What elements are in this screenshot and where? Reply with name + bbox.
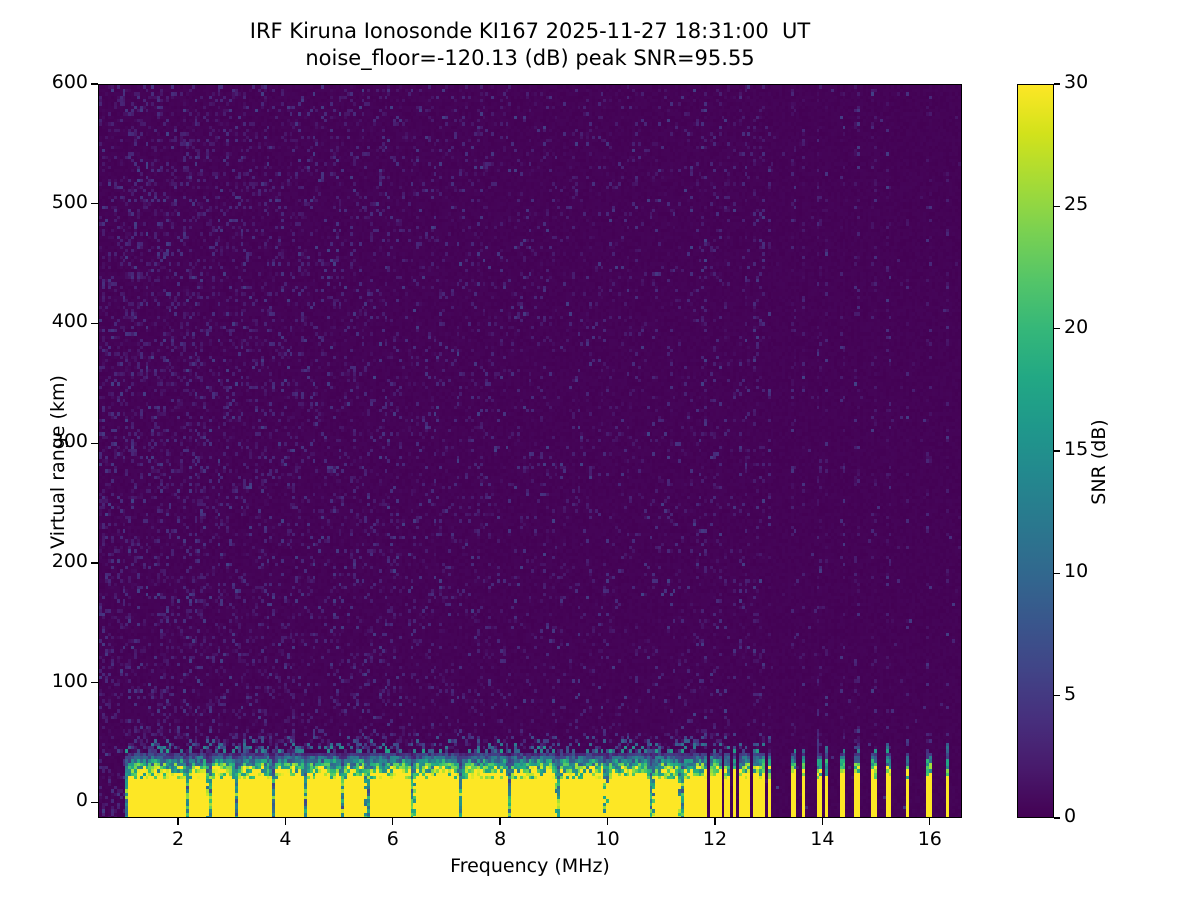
colorbar-tick-label: 15: [1064, 438, 1088, 460]
x-tick-label: 4: [245, 828, 325, 850]
x-tick-label: 6: [353, 828, 433, 850]
colorbar-tick-mark: [1054, 450, 1060, 451]
x-tick-label: 12: [675, 828, 755, 850]
y-tick-mark: [91, 443, 98, 444]
x-tick-mark: [714, 818, 715, 825]
colorbar-label: SNR (dB): [1088, 95, 1110, 829]
x-tick-mark: [392, 818, 393, 825]
colorbar-gradient: [1018, 85, 1053, 817]
colorbar-tick-mark: [1054, 83, 1060, 84]
y-tick-label: 600: [52, 71, 88, 93]
y-tick-mark: [91, 323, 98, 324]
title-line-1: IRF Kiruna Ionosonde KI167 2025-11-27 18…: [0, 18, 1060, 45]
x-tick-mark: [929, 818, 930, 825]
y-tick-label: 0: [76, 789, 88, 811]
x-tick-label: 16: [890, 828, 970, 850]
y-tick-mark: [91, 562, 98, 563]
colorbar-tick-label: 25: [1064, 193, 1088, 215]
y-tick-mark: [91, 203, 98, 204]
colorbar-tick-label: 30: [1064, 71, 1088, 93]
title-line-2: noise_floor=-120.13 (dB) peak SNR=95.55: [0, 45, 1060, 72]
x-tick-label: 2: [138, 828, 218, 850]
y-tick-mark: [91, 802, 98, 803]
x-tick-label: 10: [568, 828, 648, 850]
x-tick-mark: [177, 818, 178, 825]
x-tick-mark: [607, 818, 608, 825]
y-tick-mark: [91, 682, 98, 683]
y-tick-mark: [91, 83, 98, 84]
colorbar-tick-label: 0: [1064, 805, 1076, 827]
ionogram-heatmap[interactable]: [99, 85, 962, 818]
y-axis-label: Virtual range (km): [47, 95, 69, 829]
x-tick-mark: [499, 818, 500, 825]
colorbar-tick-label: 10: [1064, 560, 1088, 582]
plot-area[interactable]: [98, 84, 962, 818]
x-tick-mark: [822, 818, 823, 825]
colorbar-tick-mark: [1054, 695, 1060, 696]
figure-title: IRF Kiruna Ionosonde KI167 2025-11-27 18…: [0, 18, 1060, 72]
colorbar-tick-mark: [1054, 328, 1060, 329]
x-axis-label: Frequency (MHz): [98, 855, 962, 877]
colorbar-tick-label: 5: [1064, 683, 1076, 705]
x-tick-label: 14: [782, 828, 862, 850]
colorbar-tick-label: 20: [1064, 316, 1088, 338]
x-tick-mark: [285, 818, 286, 825]
colorbar[interactable]: [1017, 84, 1054, 818]
colorbar-tick-mark: [1054, 817, 1060, 818]
ionogram-figure: IRF Kiruna Ionosonde KI167 2025-11-27 18…: [0, 0, 1200, 900]
colorbar-tick-mark: [1054, 206, 1060, 207]
x-tick-label: 8: [460, 828, 540, 850]
colorbar-tick-mark: [1054, 573, 1060, 574]
